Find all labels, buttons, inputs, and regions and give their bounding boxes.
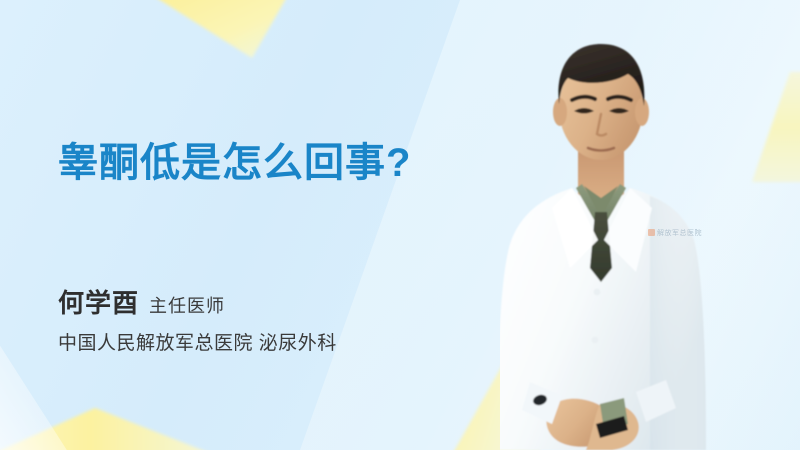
page-title: 睾酮低是怎么回事? xyxy=(58,140,411,187)
doctor-title: 主任医师 xyxy=(149,292,225,318)
coat-button xyxy=(594,289,601,296)
ear-right xyxy=(635,98,649,126)
coat-logo-text: 解放军总医院 xyxy=(657,230,702,237)
coat-logo-mark xyxy=(648,229,655,236)
coat-logo: 解放军总医院 xyxy=(648,228,702,238)
doctor-affiliation: 中国人民解放军总医院 泌尿外科 xyxy=(58,328,337,355)
promo-slide: 解放军总医院 睾酮低是怎么回事? 何学酉 主任医师 中国人民解放军总医院 泌尿外… xyxy=(0,0,800,450)
doctor-name: 何学酉 xyxy=(58,283,139,320)
text-column: 睾酮低是怎么回事? 何学酉 主任医师 中国人民解放军总医院 泌尿外科 xyxy=(58,0,528,450)
ear-left xyxy=(553,98,567,126)
doctor-portrait xyxy=(500,0,800,450)
coat-button xyxy=(592,337,599,344)
doctor-byline: 何学酉 主任医师 xyxy=(58,283,225,320)
